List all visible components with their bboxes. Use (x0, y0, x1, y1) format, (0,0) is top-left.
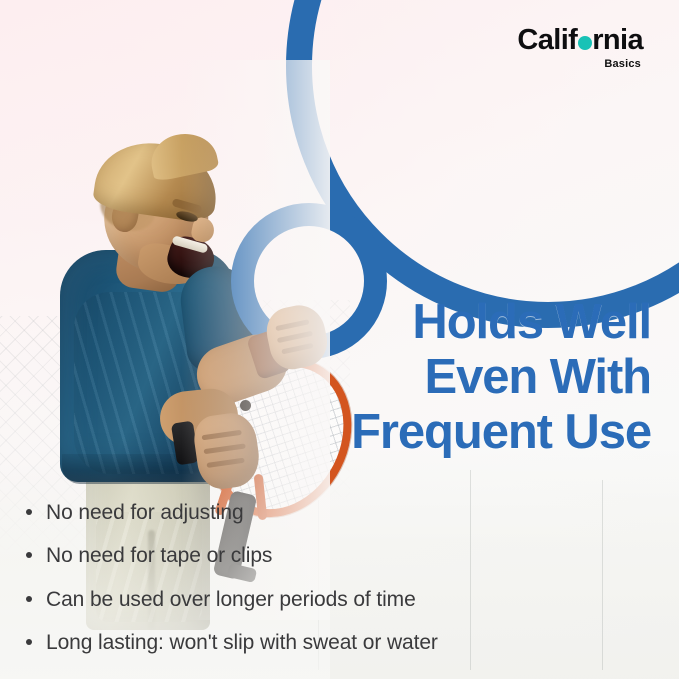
headline: Holds Well Even With Frequent Use (281, 295, 651, 460)
bullet-dot-icon (26, 552, 32, 558)
bullet-dot-icon (26, 639, 32, 645)
list-item-label: Long lasting: won't slip with sweat or w… (46, 630, 438, 656)
bullet-dot-icon (26, 596, 32, 602)
list-item: No need for tape or clips (16, 543, 656, 569)
list-item-label: No need for adjusting (46, 500, 244, 526)
list-item-label: No need for tape or clips (46, 543, 272, 569)
list-item: No need for adjusting (16, 500, 656, 526)
list-item: Can be used over longer periods of time (16, 587, 656, 613)
list-item: Long lasting: won't slip with sweat or w… (16, 630, 656, 656)
brand-logo[interactable]: Califrnia Basics (517, 26, 643, 70)
list-item-label: Can be used over longer periods of time (46, 587, 416, 613)
product-feature-card: Califrnia Basics Holds Well Even With Fr… (0, 0, 679, 679)
headline-line-3: Frequent Use (281, 405, 651, 460)
brand-name: Califrnia (517, 26, 643, 55)
feature-bullet-list: No need for adjusting No need for tape o… (16, 500, 656, 673)
brand-name-part1: Calif (517, 24, 577, 56)
bullet-dot-icon (26, 509, 32, 515)
headline-line-1: Holds Well (281, 295, 651, 350)
brand-o-dot-icon (578, 36, 592, 50)
headline-line-2: Even With (281, 350, 651, 405)
brand-name-part2: rnia (592, 24, 643, 56)
brand-tagline: Basics (517, 58, 641, 70)
